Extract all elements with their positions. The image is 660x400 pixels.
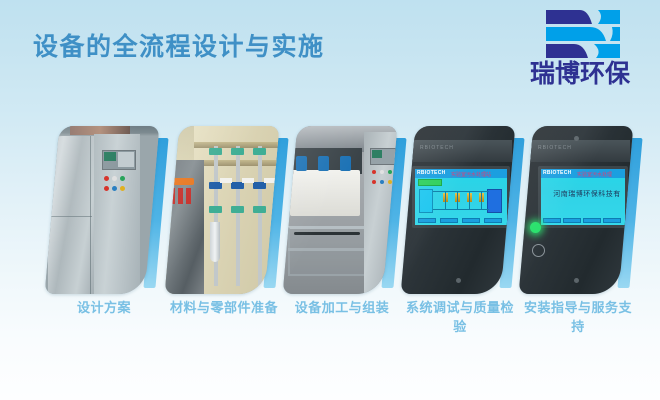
hmi-brand-5: RBIOTECH (543, 170, 572, 176)
company-logo: 瑞博环保 (518, 8, 642, 100)
hmi-title-5: 实验室污水处理 (577, 171, 612, 178)
step-caption-2: 材料与零部件准备 (165, 299, 283, 318)
step-photo-4: RBIOTECH RBIOTECH 实验室污水处理站 (401, 126, 516, 294)
panel-brand-small-5: RBIOTECH (538, 145, 572, 151)
page-header: 设备的全流程设计与实施 瑞博环保 (0, 0, 660, 115)
step-caption-5: 安装指导与服务支持 (519, 299, 637, 337)
control-knob-icon[interactable] (532, 244, 545, 257)
panel-brand-small-4: RBIOTECH (420, 145, 454, 151)
step-photo-5: RBIOTECH RBIOTECH 实验室污水处理 河南瑞博环保科技有 (519, 126, 634, 294)
status-led-indicator (530, 222, 541, 233)
step-caption-1: 设计方案 (45, 299, 163, 318)
process-step-strip: 设计方案 (0, 126, 660, 301)
step-caption-3: 设备加工与组装 (283, 299, 401, 318)
hmi-title-4: 实验室污水处理站 (451, 171, 491, 178)
ruibo-three-bar-mark-icon (540, 8, 626, 60)
page-title: 设备的全流程设计与实施 (33, 27, 325, 63)
hmi-screen-5: RBIOTECH 实验室污水处理 河南瑞博环保科技有 (541, 169, 625, 225)
process-step-card-3[interactable] (290, 126, 394, 294)
hmi-body-text-5: 河南瑞博环保科技有 (541, 189, 625, 199)
step-photo-3 (283, 126, 398, 294)
step-photo-1 (45, 126, 160, 294)
process-step-card-5[interactable]: RBIOTECH RBIOTECH 实验室污水处理 河南瑞博环保科技有 (526, 126, 630, 294)
process-step-card-2[interactable] (172, 126, 276, 294)
hmi-brand-4: RBIOTECH (417, 170, 446, 176)
process-step-card-1[interactable] (52, 126, 156, 294)
process-step-card-4[interactable]: RBIOTECH RBIOTECH 实验室污水处理站 (408, 126, 512, 294)
step-photo-2 (165, 126, 280, 294)
logo-wordmark: 瑞博环保 (518, 62, 642, 87)
hmi-screen-4: RBIOTECH 实验室污水处理站 (415, 169, 507, 225)
step-caption-4: 系统调试与质量检验 (401, 299, 519, 337)
